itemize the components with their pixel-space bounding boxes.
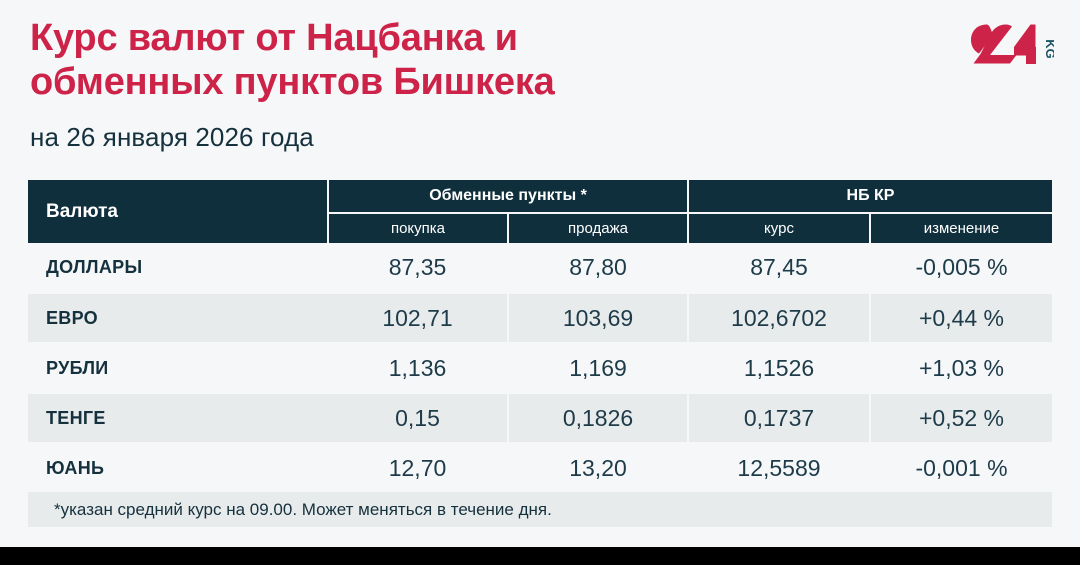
cell-sell: 0,1826 xyxy=(508,393,688,443)
col-header-change: изменение xyxy=(870,213,1052,243)
brand-logo-24kg: KG xyxy=(970,22,1054,78)
cell-buy: 12,70 xyxy=(328,443,508,493)
cell-change: +0,44 % xyxy=(870,293,1052,343)
cell-rate: 0,1737 xyxy=(688,393,870,443)
page-title-line1: Курс валют от Нацбанка и xyxy=(30,16,730,60)
table-row: ЮАНЬ12,7013,2012,5589-0,001 % xyxy=(28,443,1052,493)
cell-buy: 87,35 xyxy=(328,243,508,293)
cell-currency: ТЕНГЕ xyxy=(28,393,328,443)
bottom-bar xyxy=(0,547,1080,565)
table-body: ДОЛЛАРЫ87,3587,8087,45-0,005 %ЕВРО102,71… xyxy=(28,243,1052,493)
col-group-exchange-points: Обменные пункты * xyxy=(328,180,688,213)
footnote-text: *указан средний курс на 09.00. Может мен… xyxy=(54,500,552,520)
page-subtitle: на 26 января 2026 года xyxy=(30,122,730,153)
cell-sell: 13,20 xyxy=(508,443,688,493)
cell-change: +1,03 % xyxy=(870,343,1052,393)
col-header-sell: продажа xyxy=(508,213,688,243)
col-header-currency: Валюта xyxy=(28,180,328,243)
col-group-nbkr: НБ КР xyxy=(688,180,1052,213)
cell-buy: 0,15 xyxy=(328,393,508,443)
table-row: ТЕНГЕ0,150,18260,1737+0,52 % xyxy=(28,393,1052,443)
cell-change: -0,005 % xyxy=(870,243,1052,293)
col-header-rate: курс xyxy=(688,213,870,243)
cell-currency: ДОЛЛАРЫ xyxy=(28,243,328,293)
cell-buy: 1,136 xyxy=(328,343,508,393)
table-row: РУБЛИ1,1361,1691,1526+1,03 % xyxy=(28,343,1052,393)
table-footnote: *указан средний курс на 09.00. Может мен… xyxy=(28,492,1052,527)
cell-rate: 1,1526 xyxy=(688,343,870,393)
cell-sell: 103,69 xyxy=(508,293,688,343)
cell-currency: ЕВРО xyxy=(28,293,328,343)
cell-sell: 87,80 xyxy=(508,243,688,293)
cell-currency: РУБЛИ xyxy=(28,343,328,393)
cell-buy: 102,71 xyxy=(328,293,508,343)
page-header: Курс валют от Нацбанка и обменных пункто… xyxy=(30,16,730,153)
page-title-line2: обменных пунктов Бишкека xyxy=(30,60,730,104)
logo-suffix-text: KG xyxy=(1043,39,1054,59)
cell-rate: 87,45 xyxy=(688,243,870,293)
cell-rate: 12,5589 xyxy=(688,443,870,493)
table-head: Валюта Обменные пункты * НБ КР покупка п… xyxy=(28,180,1052,243)
page-title: Курс валют от Нацбанка и обменных пункто… xyxy=(30,16,730,105)
currency-rates-table: Валюта Обменные пункты * НБ КР покупка п… xyxy=(28,180,1052,494)
cell-rate: 102,6702 xyxy=(688,293,870,343)
cell-sell: 1,169 xyxy=(508,343,688,393)
infographic-page: Курс валют от Нацбанка и обменных пункто… xyxy=(0,0,1080,565)
cell-change: -0,001 % xyxy=(870,443,1052,493)
logo-icon: KG xyxy=(970,22,1054,78)
cell-currency: ЮАНЬ xyxy=(28,443,328,493)
table-row: ДОЛЛАРЫ87,3587,8087,45-0,005 % xyxy=(28,243,1052,293)
col-header-buy: покупка xyxy=(328,213,508,243)
table-row: ЕВРО102,71103,69102,6702+0,44 % xyxy=(28,293,1052,343)
table-head-row-groups: Валюта Обменные пункты * НБ КР xyxy=(28,180,1052,213)
cell-change: +0,52 % xyxy=(870,393,1052,443)
